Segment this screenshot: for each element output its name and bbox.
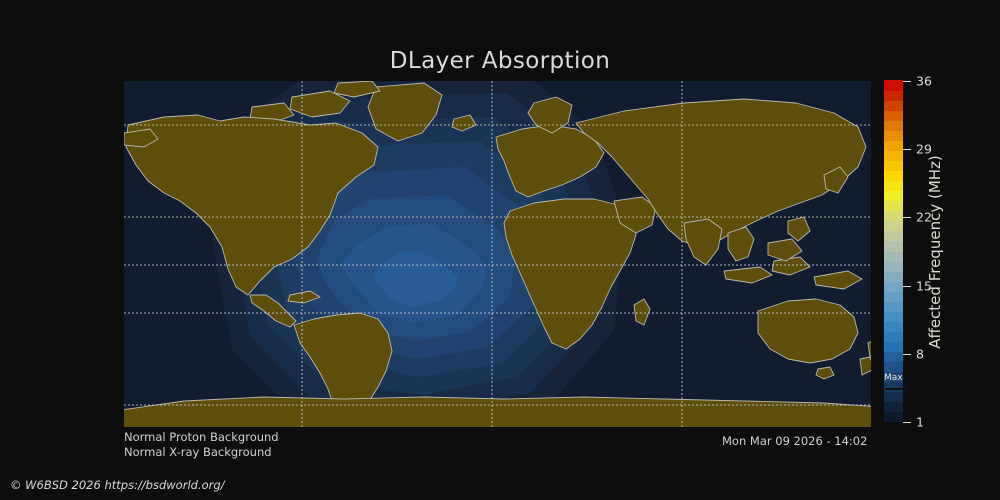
colorbar-max-marker: Max	[884, 374, 924, 396]
colorbar-tick-mark	[903, 422, 911, 423]
colorbar-tick-mark	[903, 217, 911, 218]
land-antarctica	[124, 397, 871, 427]
copyright-notice: © W6BSD 2026 https://bsdworld.org/	[10, 478, 225, 492]
map-canvas	[124, 81, 871, 427]
max-arrow-icon	[885, 388, 905, 390]
colorbar-tick-mark	[903, 354, 911, 355]
world-map[interactable]	[124, 81, 871, 427]
status-proton-background: Normal Proton Background	[124, 430, 279, 444]
colorbar-ticks: 36 29 22 15 8 1	[884, 81, 924, 422]
colorbar-axis-label-text: Affected Frequency (MHz)	[926, 155, 944, 349]
colorbar-tick-mark	[903, 149, 911, 150]
status-xray-background: Normal X-ray Background	[124, 445, 272, 459]
colorbar-axis-label: Affected Frequency (MHz)	[921, 81, 949, 422]
max-arrowhead-icon	[903, 384, 911, 394]
dlayer-absorption-plot: DLayer Absorption	[0, 0, 1000, 500]
page-title: DLayer Absorption	[0, 48, 1000, 74]
timestamp: Mon Mar 09 2026 - 14:02	[722, 434, 867, 448]
max-marker-label: Max	[884, 374, 903, 383]
colorbar-tick-mark	[903, 286, 911, 287]
colorbar-tick-mark	[903, 81, 911, 82]
